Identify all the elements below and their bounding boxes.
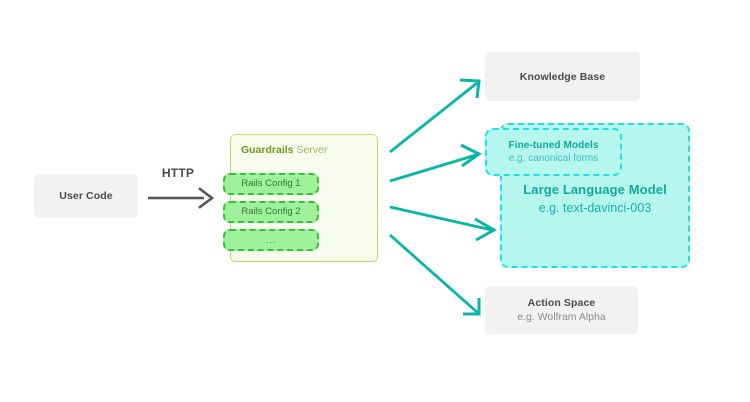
arrow-to-knowledge-base bbox=[390, 80, 479, 152]
guardrails-server-title: Guardrails Server bbox=[241, 143, 327, 157]
rails-config-item[interactable]: Rails Config 1 bbox=[223, 173, 319, 195]
arrow-to-large-language-model bbox=[390, 207, 494, 240]
llm-title: Large Language Model bbox=[502, 181, 688, 199]
rails-config-label: Rails Config 2 bbox=[241, 206, 300, 218]
guardrails-title-strong: Guardrails bbox=[241, 144, 294, 156]
node-user-code[interactable]: User Code bbox=[34, 174, 138, 218]
http-label: HTTP bbox=[148, 166, 208, 180]
rails-config-label: ... bbox=[266, 234, 277, 246]
rails-config-label: Rails Config 1 bbox=[241, 178, 300, 190]
guardrails-title-light: Server bbox=[294, 144, 328, 156]
node-knowledge-base[interactable]: Knowledge Base bbox=[485, 52, 640, 101]
rails-config-item[interactable]: Rails Config 2 bbox=[223, 201, 319, 223]
diagram-canvas: User Code HTTP Guardrails Server Rails C… bbox=[0, 0, 750, 402]
arrow-right-icon bbox=[148, 184, 220, 212]
node-fine-tuned-models[interactable]: Fine-tuned Models e.g. canonical forms bbox=[485, 128, 622, 176]
arrow-to-fine-tuned-models bbox=[390, 145, 479, 181]
node-action-space[interactable]: Action Space e.g. Wolfram Alpha bbox=[485, 286, 638, 334]
http-connector: HTTP bbox=[148, 166, 220, 212]
llm-text-group: Large Language Model e.g. text-davinci-0… bbox=[502, 181, 688, 217]
llm-subtitle: e.g. text-davinci-003 bbox=[502, 199, 688, 217]
knowledge-base-title: Knowledge Base bbox=[520, 70, 605, 84]
fine-tuned-models-title: Fine-tuned Models bbox=[508, 139, 598, 152]
action-space-subtitle: e.g. Wolfram Alpha bbox=[517, 310, 606, 324]
fine-tuned-models-subtitle: e.g. canonical forms bbox=[509, 152, 599, 165]
user-code-label: User Code bbox=[59, 189, 112, 203]
node-guardrails-server[interactable]: Guardrails Server Rails Config 1 Rails C… bbox=[230, 134, 378, 262]
action-space-title: Action Space bbox=[528, 296, 596, 310]
rails-config-item[interactable]: ... bbox=[223, 229, 319, 251]
arrow-to-action-space bbox=[390, 235, 479, 314]
